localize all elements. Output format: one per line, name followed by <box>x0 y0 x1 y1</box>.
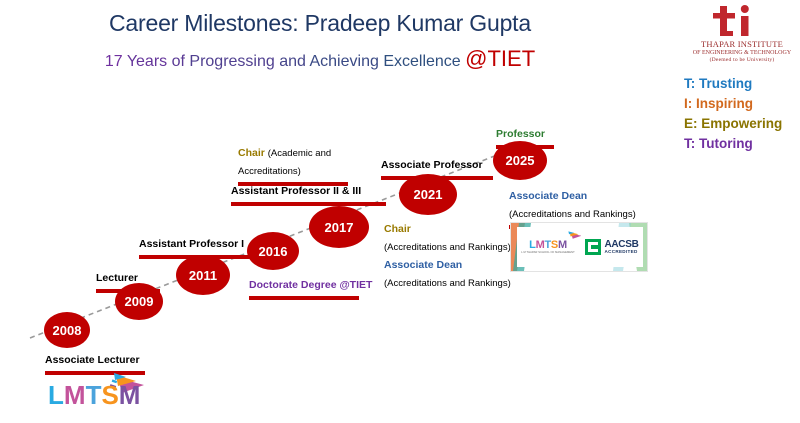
label-row: Assistant Professor I <box>139 234 251 252</box>
label-row: Chair (Academic and <box>238 143 348 161</box>
lmtsm-letter: S <box>101 380 118 411</box>
label-line: (Accreditations and Rankings)/ <box>384 242 513 253</box>
timeline-marker-year-label: 2017 <box>325 220 354 235</box>
label-line: (Academic and <box>268 148 331 159</box>
timeline-marker-2016[interactable]: 2016 <box>247 232 299 270</box>
timeline-marker-year-label: 2011 <box>189 268 217 283</box>
institute-name-line1: THAPAR INSTITUTE <box>688 40 796 50</box>
institute-name: THAPAR INSTITUTE OF ENGINEERING & TECHNO… <box>688 40 796 63</box>
label-row: (Accreditations and Rankings) <box>384 273 513 291</box>
lmtsm-small-subtitle: L M THAPAR SCHOOL OF MANAGEMENT <box>521 251 575 254</box>
subtitle-lead: 17 Years of Progressing and Achieving Ex… <box>105 53 465 70</box>
label-line: Associate Dean <box>509 190 587 202</box>
label-underline-bar <box>238 182 348 186</box>
ti-monogram-icon <box>710 4 770 38</box>
label-line: (Accreditations and Rankings) <box>509 209 636 220</box>
label-line: Lecturer <box>96 272 138 284</box>
label-underline-bar <box>96 289 160 293</box>
label-row: Associate Lecturer <box>45 350 145 368</box>
label-underline-bar <box>139 255 251 259</box>
label-line: (Accreditations and Rankings) <box>384 278 511 289</box>
label-underline-bar <box>496 145 554 149</box>
timeline-marker-2017[interactable]: 2017 <box>309 206 369 248</box>
value-item-trusting: T: Trusting <box>684 74 800 94</box>
value-item-empowering: E: Empowering <box>684 114 800 134</box>
value-item-inspiring: I: Inspiring <box>684 94 800 114</box>
label-underline-bar <box>249 296 359 300</box>
timeline-marker-year-label: 2021 <box>414 187 443 202</box>
label-line: Associate Professor <box>381 159 483 171</box>
tiet-values-list: T: Trusting I: Inspiring E: Empowering T… <box>684 74 800 154</box>
timeline-label-lecturer: Lecturer <box>96 268 160 293</box>
label-line: Doctorate Degree @TIET <box>249 279 372 291</box>
timeline-marker-year-label: 2025 <box>506 153 535 168</box>
timeline-label-professor: Professor <box>496 124 554 149</box>
label-row: Chair <box>384 219 513 237</box>
label-line: Chair <box>384 223 411 235</box>
lmtsm-letter: M <box>119 380 141 411</box>
institute-name-line2: OF ENGINEERING & TECHNOLOGY <box>688 50 796 57</box>
label-underline-bar <box>231 202 386 206</box>
timeline-marker-year-label: 2008 <box>53 323 82 338</box>
lmtsm-small-arrow-icon <box>561 231 583 242</box>
timeline-label-associate-professor: Associate Professor <box>381 155 493 180</box>
label-line: Professor <box>496 128 545 140</box>
label-row: (Accreditations and Rankings)/ <box>384 237 513 255</box>
label-row: Associate Dean <box>384 255 513 273</box>
lmtsm-letter: T <box>86 380 102 411</box>
timeline-marker-2008[interactable]: 2008 <box>44 312 90 348</box>
accreditation-logo-box: LMTSM L M THAPAR SCHOOL OF MANAGEMENT AA… <box>510 222 648 272</box>
institute-name-line3: (Deemed to be University) <box>688 57 796 63</box>
label-row: Accreditations) <box>238 161 348 179</box>
label-line: Assistant Professor II & III <box>231 185 361 197</box>
label-row: (Accreditations and Rankings) <box>509 204 647 222</box>
lmtsm-letter: M <box>64 380 86 411</box>
value-item-tutoring: T: Tutoring <box>684 134 800 154</box>
label-row: Doctorate Degree @TIET <box>249 275 372 293</box>
timeline-label-chair-academic-accreditations: Chair (Academic andAccreditations) <box>238 143 348 186</box>
aacsb-mark-icon <box>585 239 601 255</box>
timeline-marker-year-label: 2016 <box>259 244 288 259</box>
timeline-label-doctorate-degree: Doctorate Degree @TIET <box>249 275 372 300</box>
label-line: Chair <box>238 147 268 159</box>
lmtsm-letter: L <box>48 380 64 411</box>
thapar-institute-logo: THAPAR INSTITUTE OF ENGINEERING & TECHNO… <box>688 4 796 66</box>
page-subtitle: 17 Years of Progressing and Achieving Ex… <box>0 46 640 72</box>
timeline-marker-2021[interactable]: 2021 <box>399 174 457 215</box>
lmtsm-letter: S <box>551 239 558 251</box>
label-line: Assistant Professor I <box>139 238 244 250</box>
label-underline-bar <box>381 176 493 180</box>
label-line: Associate Lecturer <box>45 354 140 366</box>
timeline-marker-2011[interactable]: 2011 <box>176 255 230 295</box>
lmtsm-wordmark: LMTSM <box>48 380 140 411</box>
lmtsm-logo: LMTSM <box>48 372 156 412</box>
slide-canvas: Career Milestones: Pradeep Kumar Gupta 1… <box>0 0 800 423</box>
timeline-label-chair-accreditations-rankings: Chair(Accreditations and Rankings)/Assoc… <box>384 219 513 291</box>
accreditation-aacsb-cell: AACSB ACCREDITED <box>581 227 643 267</box>
label-line: Associate Dean <box>384 259 462 271</box>
label-line: Accreditations) <box>238 166 301 177</box>
subtitle-tiet: @TIET <box>465 46 535 71</box>
timeline-marker-year-label: 2009 <box>125 294 154 309</box>
label-row: Associate Professor <box>381 155 493 173</box>
page-title: Career Milestones: Pradeep Kumar Gupta <box>0 10 640 37</box>
label-row: Associate Dean <box>509 186 647 204</box>
label-row: Professor <box>496 124 554 142</box>
timeline-label-assistant-professor-1: Assistant Professor I <box>139 234 251 259</box>
accreditation-lmtsm-cell: LMTSM L M THAPAR SCHOOL OF MANAGEMENT <box>517 227 579 267</box>
label-row: Lecturer <box>96 268 160 286</box>
aacsb-subtitle: ACCREDITED <box>604 250 638 255</box>
